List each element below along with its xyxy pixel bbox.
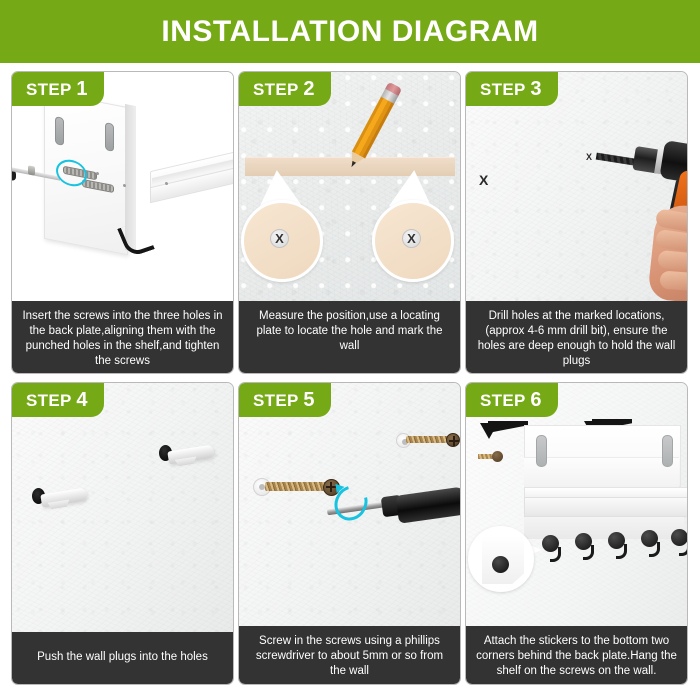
keyhole-slot-right	[662, 435, 673, 467]
keyhole-slot-right	[105, 122, 114, 152]
hook-1	[542, 535, 559, 552]
page-header: INSTALLATION DIAGRAM	[0, 0, 700, 63]
shelf-front-edge	[524, 497, 687, 517]
step-badge-label-1: STEP 1	[26, 78, 88, 101]
step-panel-6: STEP 6 Attach the stickers to the bottom…	[465, 382, 688, 685]
keyhole-slot-left	[55, 116, 64, 146]
wall-screw-head	[492, 451, 503, 462]
step-panel-5: STEP 5 Screw in the screws using a phill…	[238, 382, 461, 685]
installation-diagram-page: INSTALLATION DIAGRAM	[0, 0, 700, 700]
step-caption-6: Attach the stickers to the bottom two co…	[466, 626, 687, 684]
rubber-sticker	[492, 556, 509, 573]
wall-surface	[12, 383, 233, 632]
sticker-magnifier	[468, 526, 534, 592]
wall-screw	[478, 451, 504, 461]
shelf-back-panel-lower	[524, 457, 679, 490]
step-caption-3: Drill holes at the marked locations, (ap…	[466, 301, 687, 373]
step-panel-3: X X STEP 3 Drill holes at the marked loc…	[465, 71, 688, 374]
step-badge-3: STEP 3	[466, 72, 558, 106]
step-badge-2: STEP 2	[239, 72, 331, 106]
step-badge-label-5: STEP 5	[253, 389, 315, 412]
step-panel-4: STEP 4 Push the wall plugs into the hole…	[11, 382, 234, 685]
hook-4	[641, 530, 658, 547]
punched-hole-2	[123, 184, 126, 188]
step-panel-1: STEP 1 Insert the screws into the three …	[11, 71, 234, 374]
mark-x-large: X	[479, 172, 488, 188]
step-badge-label-2: STEP 2	[253, 78, 315, 101]
page-title: INSTALLATION DIAGRAM	[161, 15, 538, 49]
step-caption-1: Insert the screws into the three holes i…	[12, 301, 233, 373]
step-caption-5: Screw in the screws using a phillips scr…	[239, 626, 460, 684]
step-5-illustration	[239, 383, 460, 632]
step-badge-6: STEP 6	[466, 383, 558, 417]
mark-x-small: X	[586, 152, 592, 162]
step-panel-2: X X STEP 2 Measure the position,use a lo…	[238, 71, 461, 374]
punched-hole-3	[165, 182, 168, 186]
step-badge-5: STEP 5	[239, 383, 331, 417]
steps-grid: STEP 1 Insert the screws into the three …	[11, 71, 689, 691]
mark-x-left: X	[270, 229, 289, 248]
step-badge-1: STEP 1	[12, 72, 104, 106]
step-badge-label-3: STEP 3	[480, 78, 542, 101]
screw-shaft-upper	[406, 436, 450, 443]
step-1-illustration	[12, 72, 233, 321]
hook-3	[608, 532, 625, 549]
screw-head-left	[28, 165, 35, 175]
step-6-illustration	[466, 383, 687, 632]
step-3-illustration: X X	[466, 72, 687, 321]
step-badge-label-4: STEP 4	[26, 389, 88, 412]
hook-5	[671, 529, 687, 546]
step-caption-2: Measure the position,use a locating plat…	[239, 301, 460, 373]
keyhole-slot-left	[536, 435, 547, 467]
punched-hole-1	[96, 172, 99, 176]
mark-x-right: X	[402, 229, 421, 248]
step-badge-4: STEP 4	[12, 383, 104, 417]
step-2-illustration: X X	[239, 72, 460, 321]
screw-head-upper	[446, 433, 460, 447]
step-4-illustration	[12, 383, 233, 632]
step-caption-4: Push the wall plugs into the holes	[12, 632, 233, 684]
hook-2	[575, 533, 592, 550]
screw-shaft-lower	[265, 482, 327, 491]
arrow-head-left	[480, 423, 498, 439]
step-badge-label-6: STEP 6	[480, 389, 542, 412]
